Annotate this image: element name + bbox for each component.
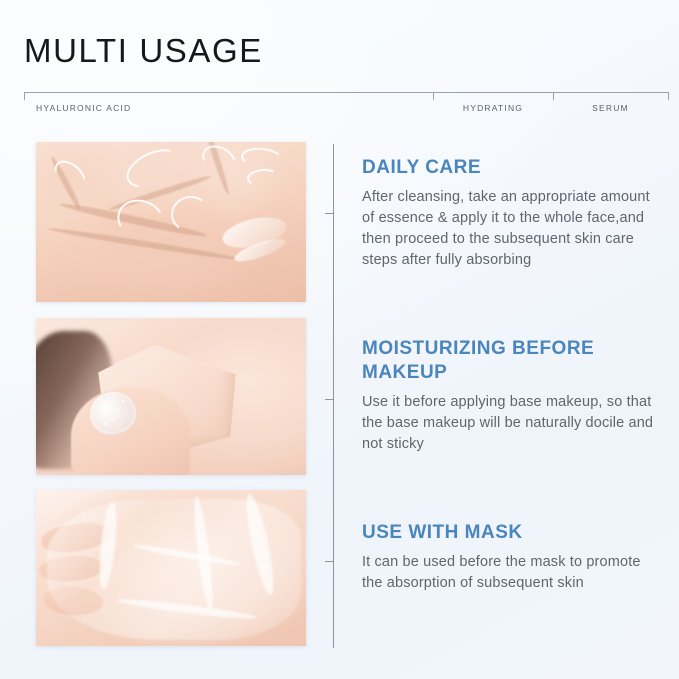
- page-title: MULTI USAGE: [24, 31, 263, 71]
- photo-moisturizing-art: [36, 318, 306, 475]
- photo-daily-care-art: [36, 142, 306, 302]
- rule-label-serum: SERUM: [553, 103, 668, 113]
- section-body-moisturizing: Use it before applying base makeup, so t…: [362, 392, 662, 455]
- section-body-daily-care: After cleansing, take an appropriate amo…: [362, 187, 662, 271]
- connector-tick-mask: [325, 561, 334, 562]
- section-moisturizing-before-makeup: MOISTURIZING BEFORE MAKEUP Use it before…: [362, 337, 662, 455]
- photo-use-with-mask: [36, 490, 306, 646]
- photo-moisturizing-before-makeup: [36, 318, 306, 475]
- section-heading-use-with-mask: USE WITH MASK: [362, 521, 662, 545]
- photo-use-with-mask-art: [36, 490, 306, 646]
- rule-tick-hydrating: [433, 92, 434, 100]
- section-daily-care: DAILY CARE After cleansing, take an appr…: [362, 156, 662, 271]
- section-body-use-with-mask: It can be used before the mask to promot…: [362, 552, 662, 594]
- section-heading-daily-care: DAILY CARE: [362, 156, 662, 180]
- rule-tick-serum: [553, 92, 554, 100]
- rule-label-hyaluronic-acid: HYALURONIC ACID: [36, 103, 131, 113]
- rule-tick-end: [668, 92, 669, 100]
- nail-glitter: [104, 423, 106, 425]
- rule-line: [24, 92, 669, 93]
- category-rule: HYALURONIC ACID HYDRATING SERUM: [24, 92, 669, 118]
- connector-line: [333, 144, 334, 648]
- section-heading-moisturizing: MOISTURIZING BEFORE MAKEUP: [362, 337, 662, 385]
- connector-tick-moisturizing: [325, 399, 334, 400]
- rule-tick-start: [24, 92, 25, 100]
- photo-daily-care: [36, 142, 306, 302]
- section-use-with-mask: USE WITH MASK It can be used before the …: [362, 521, 662, 594]
- connector-tick-daily-care: [325, 213, 334, 214]
- rule-label-hydrating: HYDRATING: [433, 103, 553, 113]
- multi-usage-infographic: MULTI USAGE HYALURONIC ACID HYDRATING SE…: [0, 0, 679, 679]
